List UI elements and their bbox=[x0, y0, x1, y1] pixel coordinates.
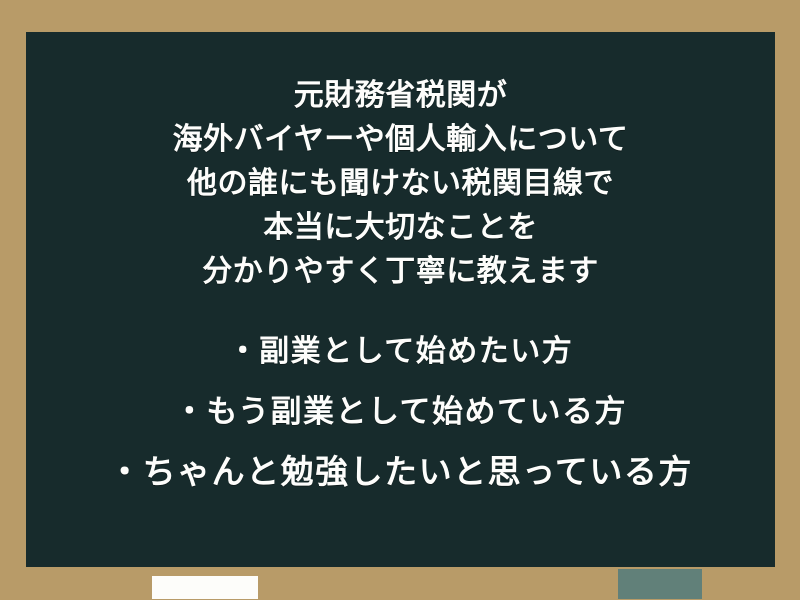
board-eraser-icon bbox=[618, 569, 702, 599]
chalk-stick-icon bbox=[152, 576, 258, 599]
chalkboard-panel: 元財務省税関が 海外バイヤーや個人輸入について 他の誰にも聞けない税関目線で 本… bbox=[26, 32, 775, 567]
headline-block: 元財務省税関が 海外バイヤーや個人輸入について 他の誰にも聞けない税関目線で 本… bbox=[26, 74, 775, 294]
slide-canvas: 元財務省税関が 海外バイヤーや個人輸入について 他の誰にも聞けない税関目線で 本… bbox=[0, 0, 800, 600]
headline-line-2: 海外バイヤーや個人輸入について bbox=[26, 118, 775, 162]
bullet-item-2: ・もう副業として始めている方 bbox=[26, 382, 775, 442]
bullet-list: ・副業として始めたい方 ・もう副業として始めている方 ・ちゃんと勉強したいと思っ… bbox=[26, 322, 775, 502]
headline-line-4: 本当に大切なことを bbox=[26, 206, 775, 250]
headline-line-3: 他の誰にも聞けない税関目線で bbox=[26, 162, 775, 206]
headline-line-5: 分かりやすく丁寧に教えます bbox=[26, 250, 775, 294]
headline-line-1: 元財務省税関が bbox=[26, 74, 775, 118]
bullet-item-1: ・副業として始めたい方 bbox=[26, 322, 775, 382]
bullet-item-3: ・ちゃんと勉強したいと思っている方 bbox=[26, 442, 775, 502]
